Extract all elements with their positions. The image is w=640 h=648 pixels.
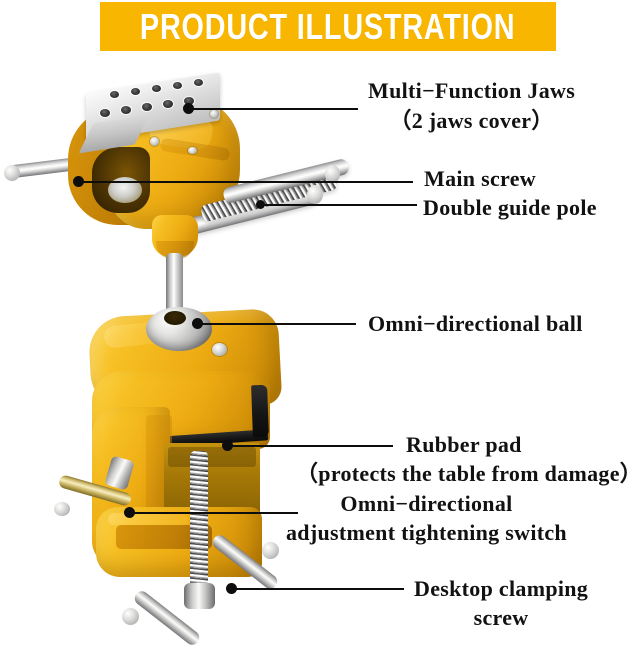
leader-line-jaws [188, 108, 358, 110]
callout-main-screw: Main screw [424, 165, 536, 193]
guide-pole-end-cap [307, 185, 323, 204]
callout-line: （protects the table from damage） [296, 459, 640, 488]
callout-line: Desktop clamping [414, 574, 588, 603]
page-title-banner: PRODUCT ILLUSTRATION [100, 2, 556, 51]
clamping-screw-handle-cap-right [262, 542, 279, 559]
swivel-seat-fastener [212, 343, 227, 356]
clamping-screw-handle-cap-left [122, 608, 139, 625]
jaw-plate-hole [142, 103, 152, 111]
ball-joint-stem [166, 253, 183, 315]
callout-omni-directional-ball: Omni−directional ball [368, 310, 583, 338]
leader-line-clamping-screw [232, 588, 404, 590]
jaw-plate-hole [110, 91, 119, 98]
callout-line: Multi−Function Jaws [368, 76, 575, 106]
callout-line: Omni−directional ball [368, 310, 583, 338]
callout-desktop-clamping-screw: Desktop clamping screw [414, 574, 588, 632]
callout-line: Rubber pad [406, 430, 640, 459]
jaw-plate-hole [131, 88, 140, 95]
callout-double-guide-pole: Double guide pole [423, 194, 597, 222]
callout-line: （2 jaws cover） [368, 106, 575, 136]
callout-line: Omni−directional [286, 489, 567, 518]
ball-socket-bore [164, 311, 186, 325]
callout-line: screw [414, 603, 588, 632]
leader-line-guide-pole [262, 204, 417, 206]
vise-head-fastener [150, 137, 159, 146]
product-illustration-page: PRODUCT ILLUSTRATION [0, 0, 640, 637]
main-screw-handle-cap [4, 165, 20, 181]
adjustment-switch-cap [54, 502, 70, 516]
jaw-plate-hole [121, 106, 131, 114]
vise-head-fastener [210, 110, 218, 118]
clamping-screw-collar [184, 583, 215, 609]
leader-line-ball [198, 323, 356, 325]
vise-head-fastener [188, 147, 197, 154]
product-image [0, 55, 350, 637]
rubber-pad-side [251, 385, 269, 438]
callout-omni-directional-adjustment: Omni−directional adjustment tightening s… [286, 489, 567, 547]
callout-line: Double guide pole [423, 194, 597, 222]
jaw-plate-hole [152, 85, 161, 92]
jaw-plate-hole [173, 82, 182, 89]
jaw-plate-hole [194, 79, 203, 86]
jaw-plate-hole [163, 100, 173, 108]
jaw-plate-hole [100, 109, 110, 117]
leader-line-main-screw [78, 181, 413, 183]
callout-multi-function-jaws: Multi−Function Jaws （2 jaws cover） [368, 76, 575, 136]
leader-line-adjustment [130, 512, 298, 514]
clamp-lower-arm-highlight [108, 513, 188, 525]
clamp-throat-shadow [168, 447, 256, 467]
callout-rubber-pad: Rubber pad （protects the table from dama… [296, 430, 640, 488]
desktop-clamping-screw-shaft [190, 451, 208, 587]
callout-line: adjustment tightening switch [286, 518, 567, 547]
page-title: PRODUCT ILLUSTRATION [140, 9, 515, 45]
callout-line: Main screw [424, 165, 536, 193]
